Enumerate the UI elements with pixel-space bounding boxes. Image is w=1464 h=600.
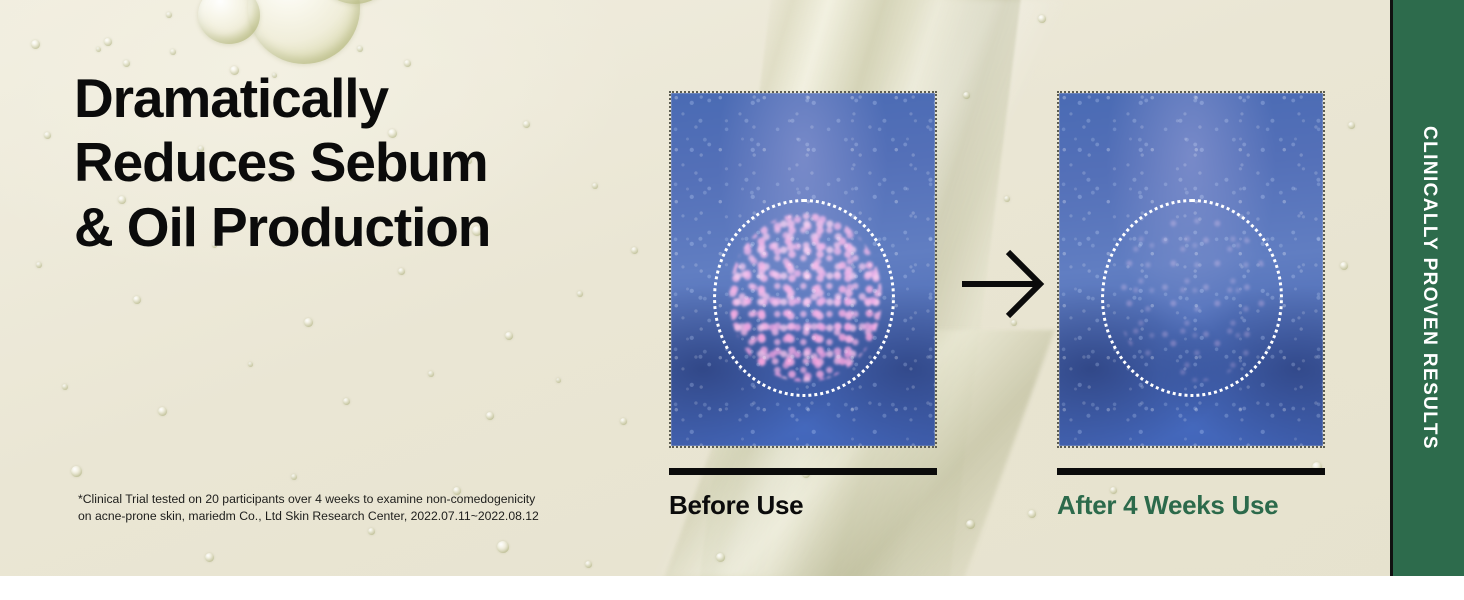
oil-bubble [577,291,583,297]
oil-bubble [398,268,405,275]
oil-bubble [1004,196,1010,202]
after-label: After 4 Weeks Use [1057,492,1325,518]
oil-bubble [291,474,297,480]
oil-bubble [36,262,42,268]
oil-bubble [248,362,253,367]
after-rule-divider [1057,468,1325,475]
oil-bubble [716,553,725,562]
oil-bubble [428,371,434,377]
oil-bubble [166,12,172,18]
oil-bubble [96,47,101,52]
before-label-block: Before Use [669,468,937,518]
before-photo [669,91,937,448]
after-label-block: After 4 Weeks Use [1057,468,1325,518]
oil-bubble [133,296,141,304]
oil-bubble [966,520,975,529]
page-title: Dramatically Reduces Sebum & Oil Product… [74,66,694,259]
clinically-proven-panel: CLINICALLY PROVEN RESULTS [1390,0,1464,576]
clinically-proven-label: CLINICALLY PROVEN RESULTS [1418,126,1440,450]
oil-bubble [556,378,561,383]
dotted-circle-marker [713,199,895,397]
after-photo [1057,91,1325,448]
oil-bubble [71,466,82,477]
arrow-right-icon [962,248,1048,320]
oil-bubble [62,384,68,390]
oil-bubble [44,132,51,139]
oil-bubble [497,541,509,553]
oil-bubble [31,40,40,49]
oil-bubble [170,49,176,55]
oil-bubble [104,38,112,46]
oil-bubble [357,46,363,52]
dotted-circle-marker [1101,199,1283,397]
oil-bubble [1340,262,1348,270]
oil-bubble [505,332,513,340]
oil-bubble [368,528,375,535]
oil-bubble [963,92,970,99]
oil-bubble [304,318,313,327]
oil-bubble [1011,320,1017,326]
before-label: Before Use [669,492,937,518]
clinical-trial-disclaimer: *Clinical Trial tested on 20 participant… [78,491,623,526]
oil-bubble [486,412,494,420]
oil-bubble [343,398,350,405]
clinical-results-banner: Dramatically Reduces Sebum & Oil Product… [0,0,1464,600]
oil-bubble [1028,510,1036,518]
before-rule-divider [669,468,937,475]
oil-bubble [205,553,214,562]
oil-bubble [585,561,592,568]
oil-bubble [158,407,167,416]
oil-bubble [620,418,627,425]
oil-bubble [1038,15,1046,23]
oil-bubble [1348,122,1355,129]
